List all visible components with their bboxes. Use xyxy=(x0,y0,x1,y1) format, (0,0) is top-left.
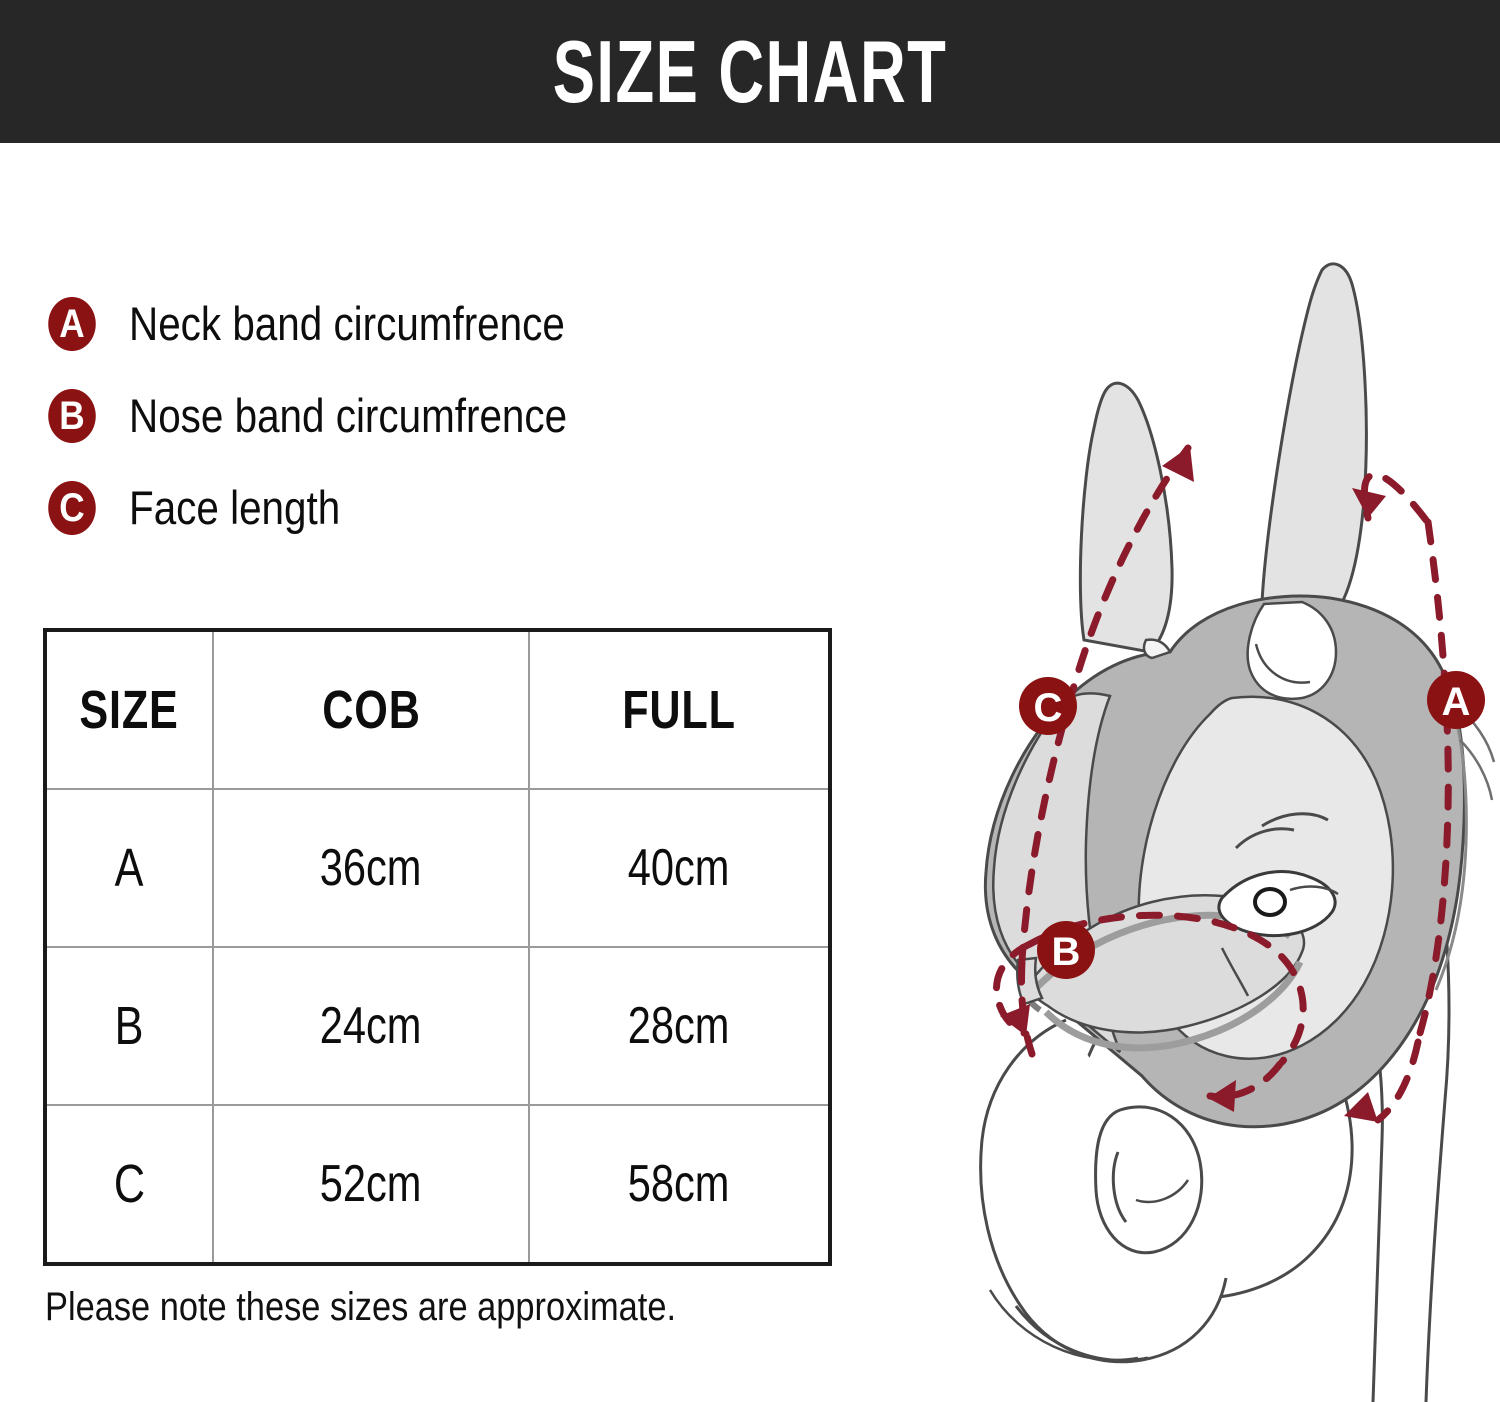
column-header-full: FULL xyxy=(529,630,830,789)
cell-full-a: 40cm xyxy=(529,789,830,947)
legend-item-b: B Nose band circumfrence xyxy=(45,370,805,462)
table-row: A 36cm 40cm xyxy=(45,789,830,947)
cell-size-a: A xyxy=(45,789,213,947)
cell-full-b: 28cm xyxy=(529,947,830,1105)
column-header-cob: COB xyxy=(213,630,529,789)
page-title: SIZE CHART xyxy=(553,28,948,116)
marker-badge-b: B xyxy=(1037,921,1095,979)
badge-b-icon: B xyxy=(48,389,96,443)
marker-badge-a: A xyxy=(1427,671,1485,729)
legend-label-a: Neck band circumfrence xyxy=(129,298,565,350)
legend-label-c: Face length xyxy=(129,482,340,534)
cell-cob-a: 36cm xyxy=(213,789,529,947)
legend-item-a: A Neck band circumfrence xyxy=(45,278,805,370)
marker-badge-b-label: B xyxy=(1052,930,1081,974)
marker-badge-a-label: A xyxy=(1442,680,1471,724)
left-panel: A Neck band circumfrence B Nose band cir… xyxy=(0,143,880,1402)
marker-badge-c-label: C xyxy=(1034,686,1063,730)
column-header-size: SIZE xyxy=(45,630,213,789)
legend-label-b: Nose band circumfrence xyxy=(129,390,567,442)
cell-cob-b: 24cm xyxy=(213,947,529,1105)
cell-size-b: B xyxy=(45,947,213,1105)
horse-fly-mask-illustration: C A B xyxy=(870,200,1500,1402)
table-row: B 24cm 28cm xyxy=(45,947,830,1105)
horse-ears xyxy=(1080,264,1366,652)
badge-a-icon: A xyxy=(48,297,96,351)
footnote-text: Please note these sizes are approximate. xyxy=(45,1285,676,1330)
size-table: SIZE COB FULL A 36cm 40cm B 24cm 28cm C … xyxy=(43,628,832,1266)
marker-badge-c: C xyxy=(1019,677,1077,735)
legend-item-c: C Face length xyxy=(45,462,805,554)
legend: A Neck band circumfrence B Nose band cir… xyxy=(45,278,805,554)
cell-size-c: C xyxy=(45,1105,213,1264)
table-row: C 52cm 58cm xyxy=(45,1105,830,1264)
table-header-row: SIZE COB FULL xyxy=(45,630,830,789)
cell-full-c: 58cm xyxy=(529,1105,830,1264)
cell-cob-c: 52cm xyxy=(213,1105,529,1264)
header-bar: SIZE CHART xyxy=(0,0,1500,143)
badge-c-icon: C xyxy=(48,481,96,535)
